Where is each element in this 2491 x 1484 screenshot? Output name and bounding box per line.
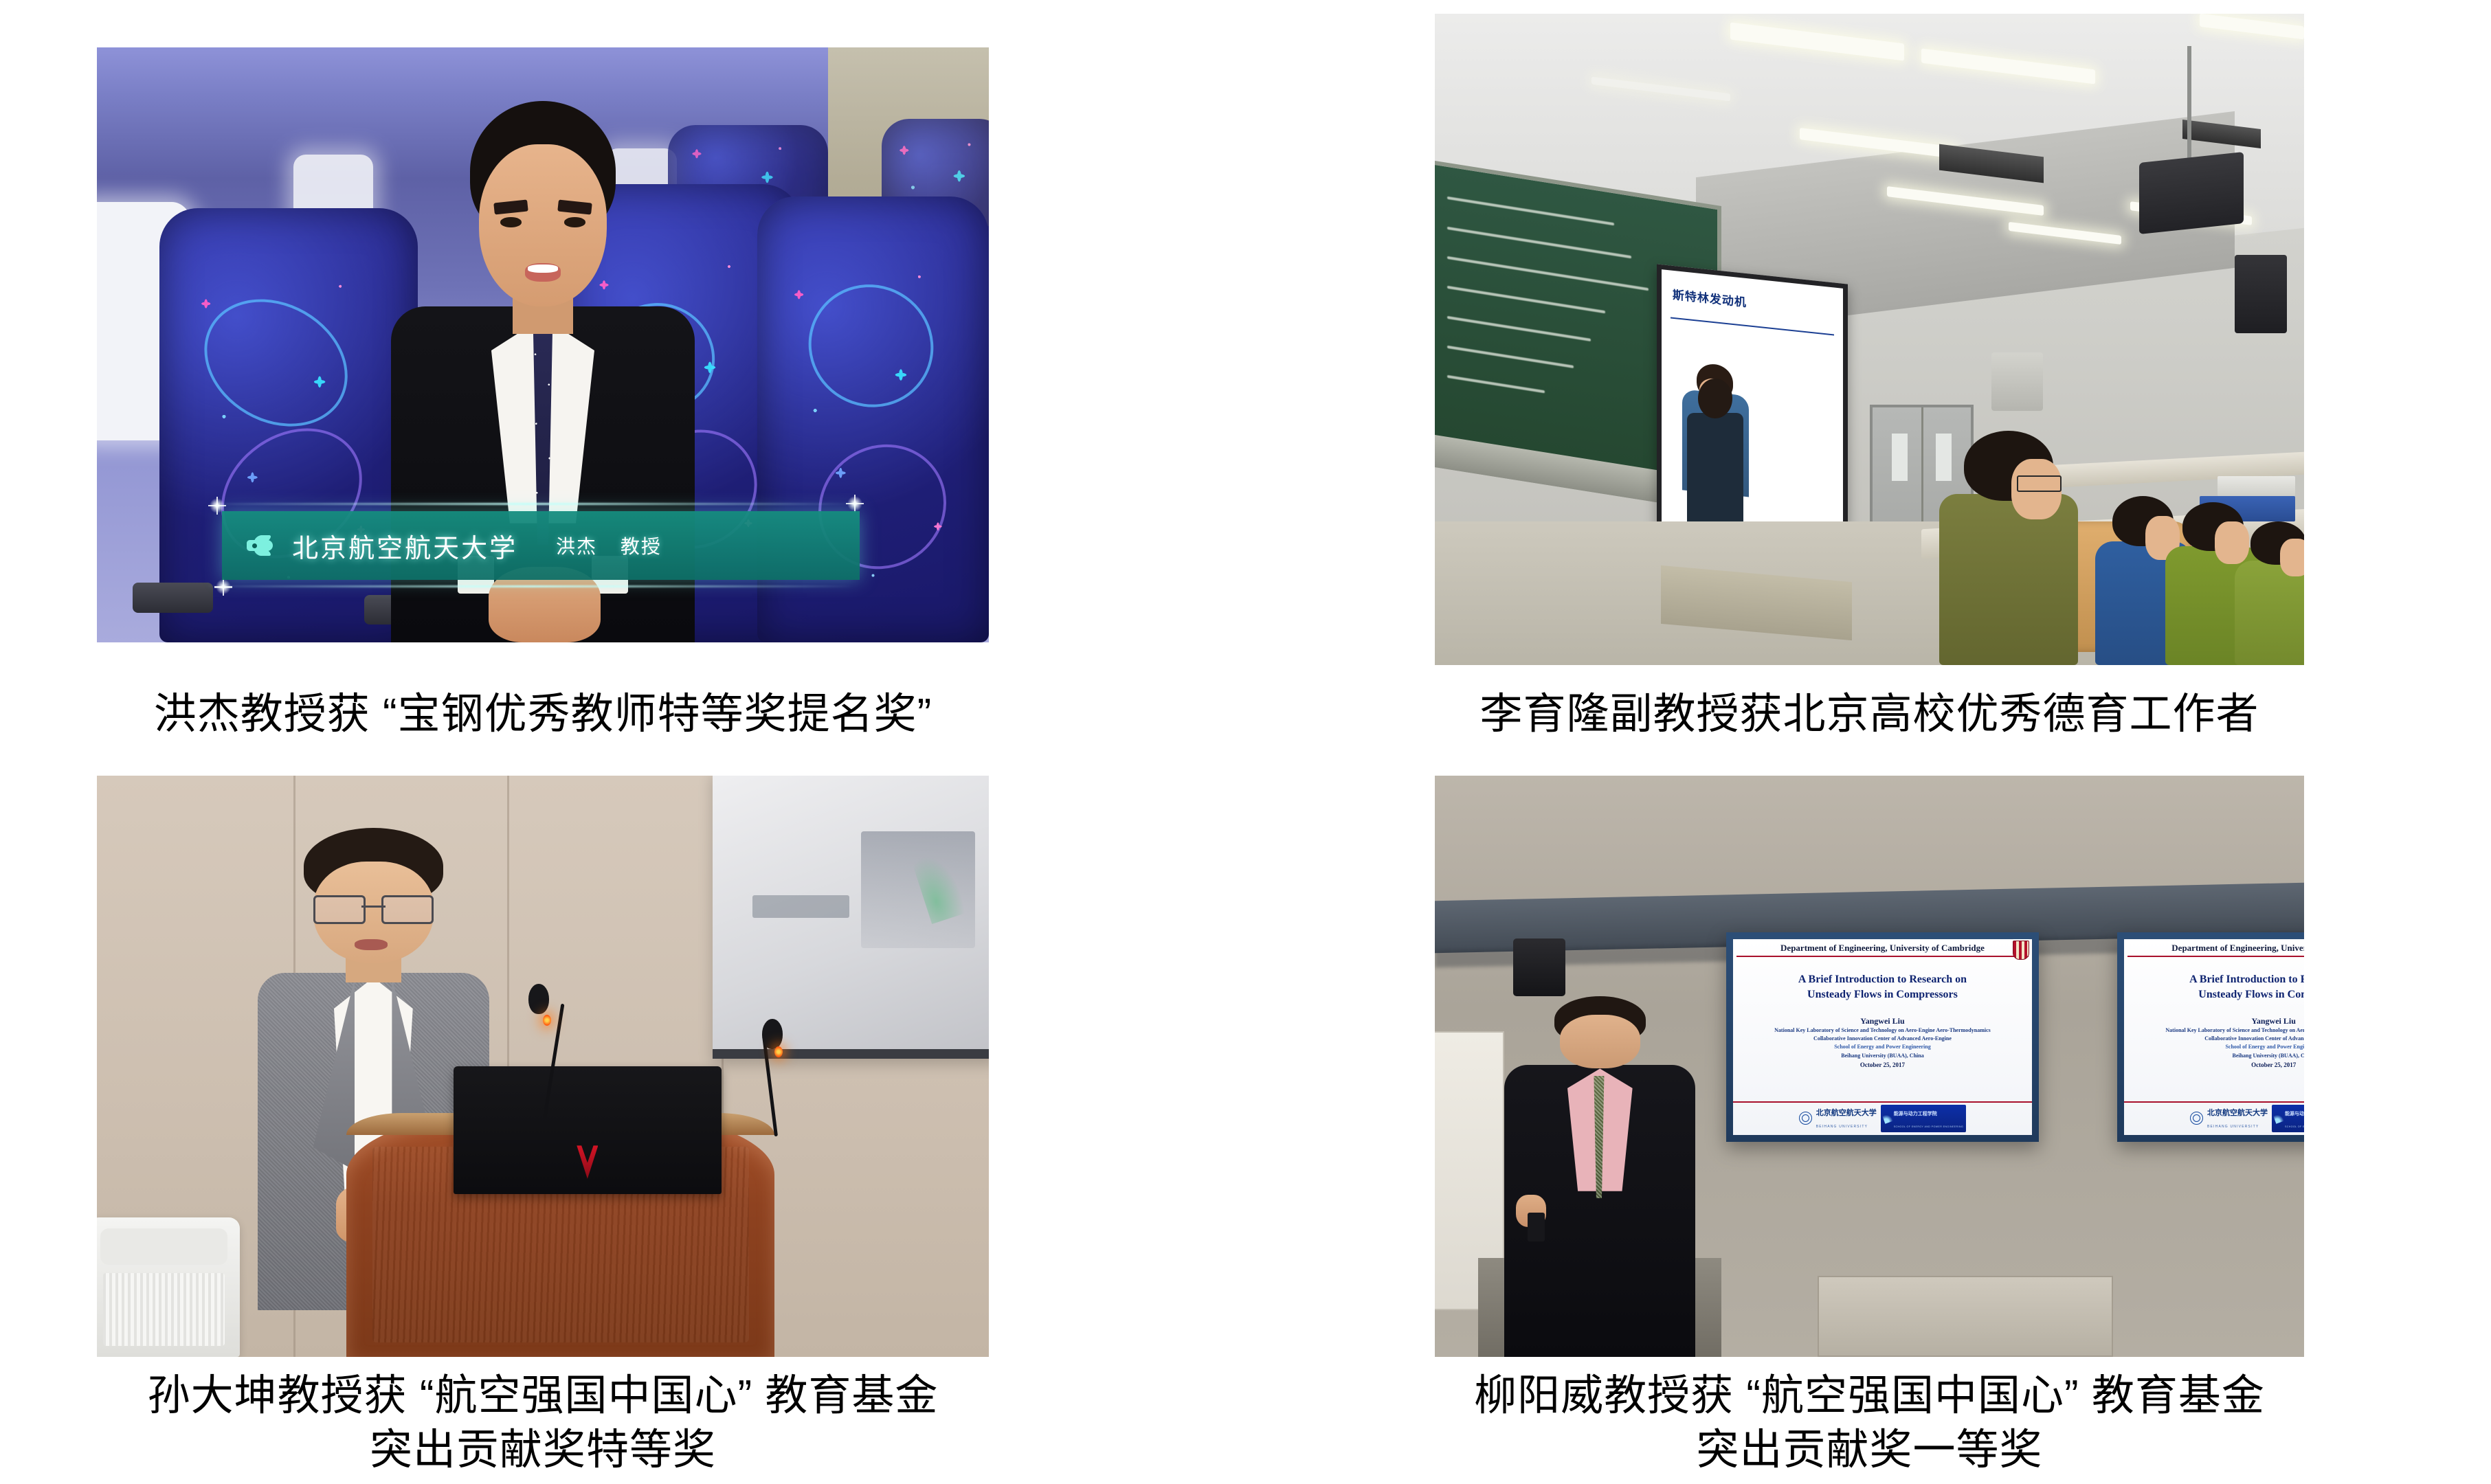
aircraft-icon bbox=[244, 534, 280, 557]
sepe-badge: 能源与动力工程学院 SCHOOL OF ENERGY AND POWER ENG… bbox=[1881, 1105, 1966, 1132]
wall-display-left: Department of Engineering, University of… bbox=[1726, 932, 2039, 1142]
slide-affiliation-2: Collaborative Innovation Center of Advan… bbox=[2124, 1035, 2304, 1043]
radiator-panel bbox=[1818, 1276, 2113, 1357]
podium-speech-photo bbox=[97, 776, 989, 1357]
slide-affiliation-3: School of Energy and Power Engineering bbox=[1733, 1043, 2032, 1051]
caption-bottom-left: 孙大坤教授获 “航空强国中国心” 教育基金 突出贡献奖特等奖 bbox=[97, 1369, 989, 1478]
screen-text-block bbox=[752, 895, 849, 917]
slide-affiliation-4: Beihang University (BUAA), China bbox=[2124, 1052, 2304, 1060]
cambridge-presentation-photo: Department of Engineering, University of… bbox=[1435, 776, 2304, 1357]
slide-title-line2: Unsteady Flows in Compressors bbox=[1737, 987, 2028, 1002]
slide-header: Department of Engineering, University of… bbox=[2124, 939, 2304, 956]
sepe-badge-en: SCHOOL OF ENERGY AND POWER ENGINEERING bbox=[2285, 1125, 2304, 1128]
eye bbox=[564, 217, 585, 227]
face bbox=[479, 144, 606, 306]
classroom-lecture-photo: 斯特林发动机 bbox=[1435, 14, 2304, 665]
slide-canvas: 北京航空航天大学 洪杰 教授 洪杰教授获 “宝钢优秀教师特等奖提名奖” bbox=[0, 0, 2491, 1484]
lower-third-person: 洪杰 bbox=[556, 532, 597, 559]
lower-third-organization: 北京航空航天大学 bbox=[292, 527, 517, 565]
broadcast-lower-third: 北京航空航天大学 洪杰 教授 bbox=[222, 511, 860, 580]
wall-speaker bbox=[1513, 938, 1565, 997]
buaa-seal-icon bbox=[2190, 1112, 2203, 1125]
slide-affiliation-3: School of Energy and Power Engineering bbox=[2124, 1043, 2304, 1051]
slide-meta: Yangwei Liu National Key Laboratory of S… bbox=[1733, 1016, 2032, 1069]
slide-affiliation-2: Collaborative Innovation Center of Advan… bbox=[1733, 1035, 2032, 1043]
display-slide-rule bbox=[1671, 317, 1834, 335]
tv-interview-photo: 北京航空航天大学 洪杰 教授 bbox=[97, 47, 989, 642]
buaa-logo-cn: 北京航空航天大学 bbox=[2207, 1109, 2268, 1117]
wall-display-right: Department of Engineering, University of… bbox=[2117, 932, 2304, 1142]
mouth bbox=[525, 263, 561, 282]
banner-glow-line bbox=[204, 503, 856, 505]
face bbox=[1560, 1015, 1640, 1069]
wall-speaker bbox=[2235, 255, 2287, 333]
slide-title: A Brief Introduction to Research on Unst… bbox=[2124, 972, 2304, 1002]
slide-footer: 北京航空航天大学 BEIHANG UNIVERSITY 能源与动力工程学院 SC… bbox=[2124, 1101, 2304, 1135]
microphone-head bbox=[528, 984, 549, 1014]
buaa-logo-en: BEIHANG UNIVERSITY bbox=[1816, 1125, 1868, 1129]
slide-footer: 北京航空航天大学 BEIHANG UNIVERSITY 能源与动力工程学院 SC… bbox=[1733, 1101, 2032, 1135]
slide-author: Yangwei Liu bbox=[2124, 1016, 2304, 1026]
projector bbox=[2139, 152, 2244, 234]
cambridge-crest-icon bbox=[2013, 941, 2029, 960]
slide-affiliation-1: National Key Laboratory of Science and T… bbox=[2124, 1026, 2304, 1035]
eye bbox=[500, 217, 522, 227]
slide-date: October 25, 2017 bbox=[2124, 1061, 2304, 1068]
slide-title: A Brief Introduction to Research on Unst… bbox=[1733, 972, 2032, 1002]
banner-glow-line bbox=[204, 585, 856, 587]
presentation-clicker bbox=[1528, 1213, 1545, 1241]
caption-top-left: 洪杰教授获 “宝钢优秀教师特等奖提名奖” bbox=[97, 687, 989, 741]
title-slide: Department of Engineering, University of… bbox=[2124, 939, 2304, 1135]
slide-department: Department of Engineering, University of… bbox=[2171, 943, 2304, 954]
projection-screen bbox=[713, 776, 989, 1059]
slide-department: Department of Engineering, University of… bbox=[1780, 943, 1985, 954]
title-slide: Department of Engineering, University of… bbox=[1733, 939, 2032, 1135]
sepe-badge-en: SCHOOL OF ENERGY AND POWER ENGINEERING bbox=[1894, 1125, 1963, 1128]
eyeglasses bbox=[313, 895, 434, 919]
atom-motif bbox=[181, 274, 371, 452]
slide-header: Department of Engineering, University of… bbox=[1733, 939, 2032, 956]
buaa-logo-cn: 北京航空航天大学 bbox=[1816, 1109, 1877, 1117]
sepe-leaf-icon bbox=[1882, 1113, 1892, 1123]
lower-third-title: 教授 bbox=[621, 532, 662, 559]
air-conditioner bbox=[1991, 352, 2044, 411]
slide-title-line2: Unsteady Flows in Compressors bbox=[2128, 987, 2304, 1002]
microphone-indicator bbox=[543, 1015, 551, 1026]
caption-bottom-right: 柳阳威教授获 “航空强国中国心” 教育基金 突出贡献奖一等奖 bbox=[1435, 1369, 2304, 1478]
slide-date: October 25, 2017 bbox=[1733, 1061, 2032, 1068]
slide-affiliation-4: Beihang University (BUAA), China bbox=[1733, 1052, 2032, 1060]
presenter-person bbox=[1504, 996, 1695, 1357]
sparkle-icon bbox=[846, 495, 864, 513]
sepe-badge-cn: 能源与动力工程学院 bbox=[1894, 1112, 1937, 1116]
slide-rule bbox=[2127, 956, 2304, 957]
buaa-logo-en: BEIHANG UNIVERSITY bbox=[2207, 1125, 2259, 1129]
buaa-seal-icon bbox=[1799, 1112, 1812, 1125]
laptop bbox=[454, 1066, 721, 1194]
sparkle-icon bbox=[214, 578, 232, 596]
atom-motif bbox=[786, 262, 956, 430]
display-slide-title: 斯特林发动机 bbox=[1672, 285, 1746, 310]
book-stack bbox=[2218, 476, 2296, 495]
mouth bbox=[355, 939, 387, 951]
slide-rule bbox=[1736, 956, 2029, 957]
sepe-badge-cn: 能源与动力工程学院 bbox=[2285, 1112, 2304, 1116]
slide-title-line1: A Brief Introduction to Research on bbox=[1737, 972, 2028, 987]
sepe-badge: 能源与动力工程学院 SCHOOL OF ENERGY AND POWER ENG… bbox=[2272, 1105, 2304, 1132]
student bbox=[1939, 431, 2078, 665]
slide-affiliation-1: National Key Laboratory of Science and T… bbox=[1733, 1026, 2032, 1035]
air-purifier bbox=[97, 1217, 240, 1357]
microphone-head bbox=[762, 1019, 783, 1049]
seat-armrest bbox=[133, 583, 213, 612]
sepe-leaf-icon bbox=[2273, 1113, 2283, 1123]
slide-title-line1: A Brief Introduction to Research on bbox=[2128, 972, 2304, 987]
student bbox=[2235, 521, 2304, 665]
laptop-logo bbox=[577, 1145, 598, 1178]
caption-top-right: 李育隆副教授获北京高校优秀德育工作者 bbox=[1435, 687, 2304, 741]
slide-meta: Yangwei Liu National Key Laboratory of S… bbox=[2124, 1016, 2304, 1069]
slide-author: Yangwei Liu bbox=[1733, 1016, 2032, 1026]
